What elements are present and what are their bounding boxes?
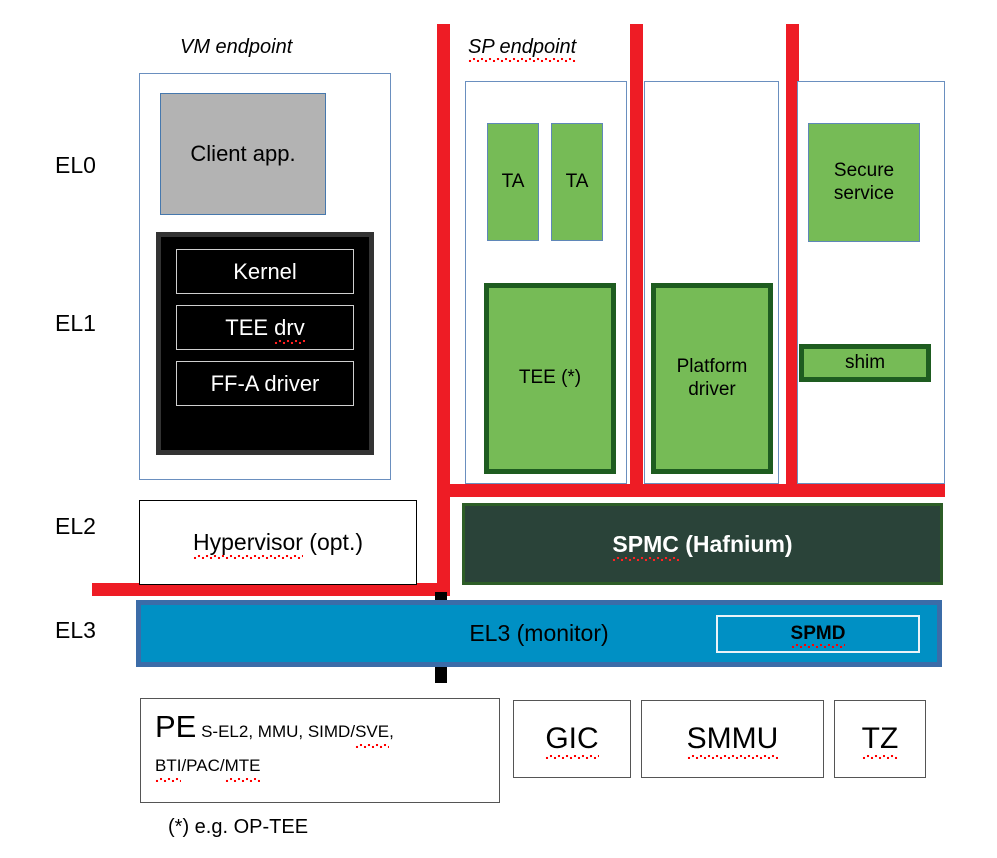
spmc-label-suffix: (Hafnium) bbox=[679, 531, 793, 557]
pe-features-comma: , bbox=[389, 722, 394, 741]
pe-features-pac: /PAC/ bbox=[181, 756, 224, 775]
gic-box[interactable]: GIC bbox=[513, 700, 631, 778]
exception-level-label-el0: EL0 bbox=[55, 152, 96, 179]
caption-sp-endpoint: SP endpoint bbox=[468, 36, 576, 59]
red-horizontal-line-el1-boundary bbox=[437, 484, 945, 497]
hypervisor-label: Hypervisor (opt.) bbox=[193, 529, 363, 556]
platform-driver-label-line1: Platform bbox=[677, 356, 748, 378]
pe-features-a: S-EL2, MMU, SIMD/ bbox=[201, 722, 355, 741]
hypervisor-box[interactable]: Hypervisor (opt.) bbox=[139, 500, 417, 585]
kernel-box[interactable]: Kernel bbox=[176, 249, 354, 294]
spmc-label-word: SPMC bbox=[612, 531, 678, 558]
gic-label: GIC bbox=[545, 722, 598, 756]
pe-features-bti: BTI bbox=[155, 754, 181, 779]
pe-box[interactable]: PE S-EL2, MMU, SIMD/SVE,BTI/PAC/MTE bbox=[140, 698, 500, 803]
red-vertical-line-left bbox=[437, 24, 450, 596]
spmd-label: SPMD bbox=[791, 623, 846, 645]
spmc-box[interactable]: SPMC (Hafnium) bbox=[462, 503, 943, 585]
tee-box[interactable]: TEE (*) bbox=[484, 283, 616, 474]
caption-vm-endpoint: VM endpoint bbox=[180, 36, 292, 59]
spmc-label: SPMC (Hafnium) bbox=[612, 531, 792, 558]
pe-text-block: PE S-EL2, MMU, SIMD/SVE,BTI/PAC/MTE bbox=[155, 709, 485, 779]
pe-title: PE bbox=[155, 709, 196, 744]
platform-driver-box[interactable]: Platform driver bbox=[651, 283, 773, 474]
trusted-app-box-1[interactable]: TA bbox=[487, 123, 539, 241]
secure-service-label-line2: service bbox=[834, 183, 894, 205]
tee-driver-box[interactable]: TEE drv bbox=[176, 305, 354, 350]
diagram-canvas: VM endpoint SP endpoint EL0 EL1 EL2 EL3 … bbox=[0, 0, 997, 858]
caption-sp-endpoint-text: SP endpoint bbox=[468, 36, 576, 59]
shim-box[interactable]: shim bbox=[799, 344, 931, 382]
tee-driver-label-squiggle: drv bbox=[274, 315, 305, 341]
trusted-app-box-2[interactable]: TA bbox=[551, 123, 603, 241]
red-vertical-line-middle bbox=[630, 24, 643, 490]
smmu-label: SMMU bbox=[687, 722, 779, 756]
ffa-driver-box[interactable]: FF-A driver bbox=[176, 361, 354, 406]
footnote: (*) e.g. OP-TEE bbox=[168, 816, 308, 839]
secure-service-label-line1: Secure bbox=[834, 160, 894, 182]
smmu-box[interactable]: SMMU bbox=[641, 700, 824, 778]
hypervisor-label-word: Hypervisor bbox=[193, 529, 303, 556]
exception-level-label-el2: EL2 bbox=[55, 513, 96, 540]
client-app-box[interactable]: Client app. bbox=[160, 93, 326, 215]
platform-driver-label-line2: driver bbox=[688, 379, 736, 401]
tee-driver-label-prefix: TEE bbox=[225, 315, 274, 341]
exception-level-label-el3: EL3 bbox=[55, 617, 96, 644]
black-connector-lower bbox=[435, 667, 447, 683]
tz-box[interactable]: TZ bbox=[834, 700, 926, 778]
hypervisor-label-suffix: (opt.) bbox=[303, 529, 363, 555]
exception-level-label-el1: EL1 bbox=[55, 310, 96, 337]
pe-features-mte: MTE bbox=[225, 754, 261, 779]
pe-features-sve: SVE bbox=[355, 720, 389, 745]
vm-kernel-stack-container: Kernel TEE drv FF-A driver bbox=[156, 232, 374, 455]
spmd-box[interactable]: SPMD bbox=[716, 615, 920, 653]
secure-service-box[interactable]: Secure service bbox=[808, 123, 920, 242]
tz-label: TZ bbox=[862, 722, 899, 756]
